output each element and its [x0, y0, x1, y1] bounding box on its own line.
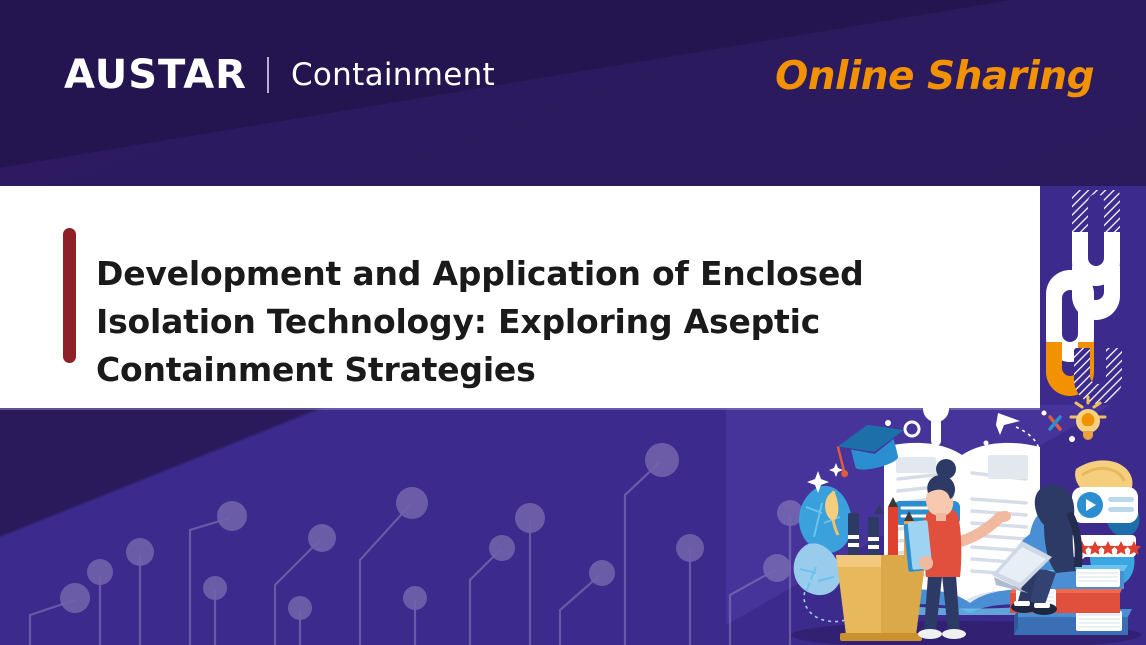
page-title: Development and Application of Enclosed …: [96, 250, 866, 394]
brand-logo[interactable]: AUSTAR Containment: [64, 55, 495, 95]
slide-header: AUSTAR Containment Online Sharing: [0, 0, 1146, 186]
austar-logo-icon: AUSTAR: [64, 55, 247, 95]
slide-canvas: AUSTAR Containment Online Sharing Develo…: [0, 0, 1146, 645]
brand-divider-icon: [267, 57, 269, 93]
title-accent-bar: [63, 228, 76, 363]
chevron-decoration-icon: [1030, 190, 1146, 410]
circuit-board-pattern: [0, 400, 820, 645]
brand-text: AUSTAR: [64, 52, 247, 98]
online-sharing-badge: Online Sharing: [775, 54, 1094, 99]
online-learning-illustration: [776, 395, 1146, 645]
brand-sub-label: Containment: [291, 60, 495, 91]
